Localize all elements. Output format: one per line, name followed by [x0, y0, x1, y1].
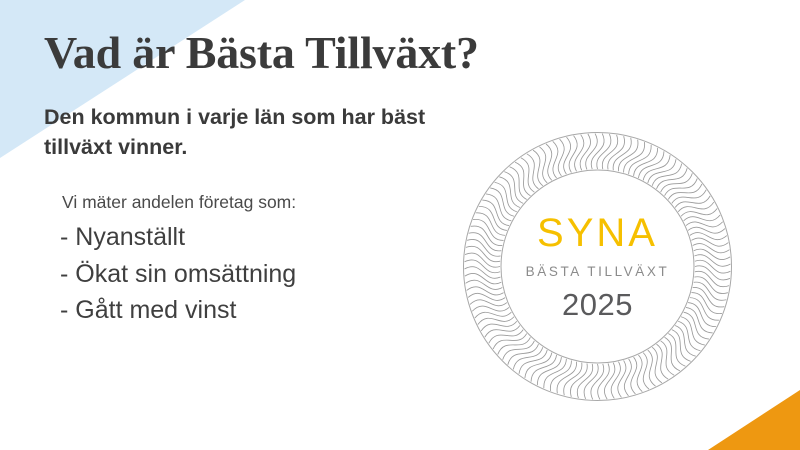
page-title: Vad är Bästa Tillväxt? [44, 30, 474, 77]
list-item: - Nyanställt [60, 219, 474, 256]
badge-ring-pattern [462, 131, 733, 402]
slide-canvas: Vad är Bästa Tillväxt? Den kommun i varj… [0, 0, 800, 450]
text-column: Vad är Bästa Tillväxt? Den kommun i varj… [44, 30, 474, 329]
syna-award-badge: SYNA BÄSTA TILLVÄXT 2025 [462, 131, 733, 402]
list-item: - Gått med vinst [60, 292, 474, 329]
criteria-intro: Vi mäter andelen företag som: [62, 192, 474, 213]
criteria-list: - Nyanställt - Ökat sin omsättning - Gåt… [60, 219, 474, 329]
subheadline: Den kommun i varje län som har bäst till… [44, 103, 444, 162]
list-item: - Ökat sin omsättning [60, 256, 474, 293]
